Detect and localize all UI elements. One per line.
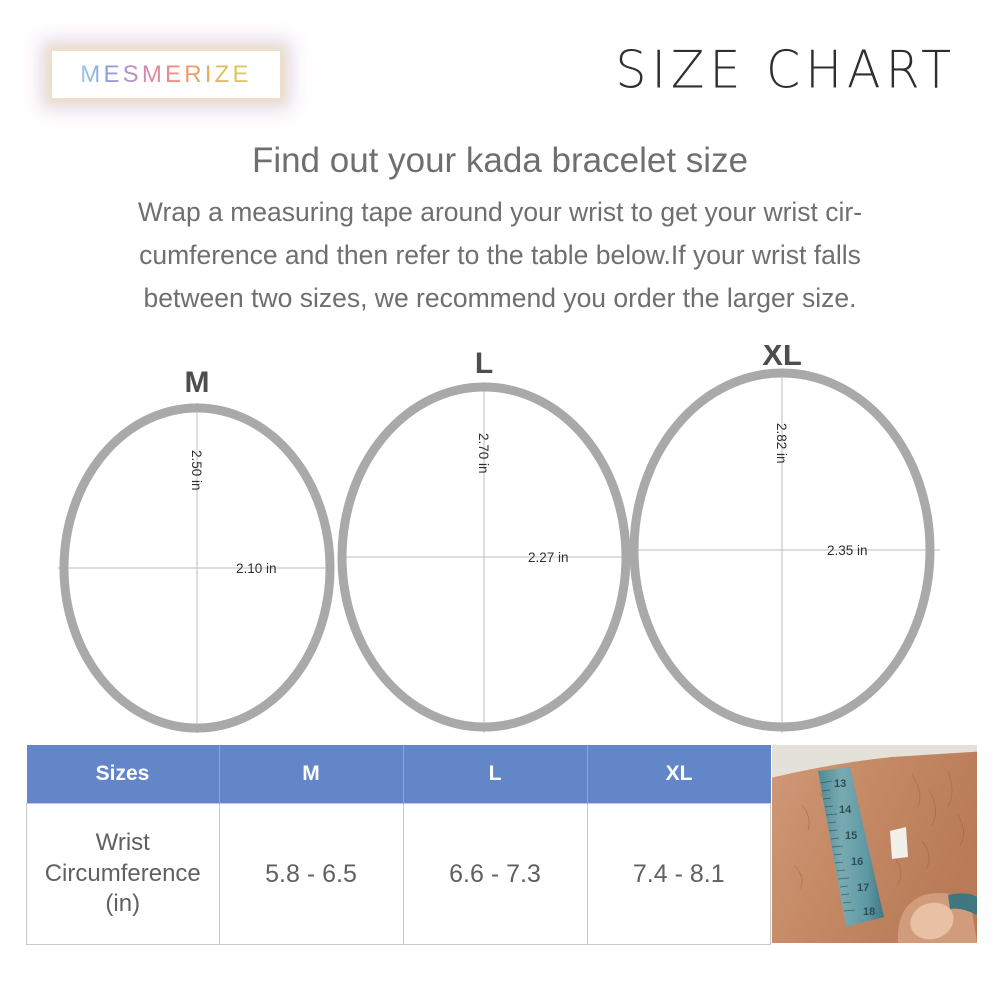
tape-number-18: 18	[863, 906, 875, 918]
oval-m-size-label: M	[185, 366, 210, 399]
wrist-measurement-photo: 13 14 15 16 17 18	[772, 745, 977, 943]
tape-number-17: 17	[857, 882, 869, 894]
table-cell-xl: 7.4 - 8.1	[587, 804, 771, 945]
intro-heading: Find out your kada bracelet size	[0, 140, 1000, 181]
row-label-line-2: Circumference	[45, 860, 201, 887]
row-label-line-3: (in)	[105, 890, 140, 917]
oval-m-width-label: 2.10 in	[236, 561, 277, 576]
tape-number-15: 15	[845, 830, 857, 842]
table-header-row: Sizes M L XL	[27, 745, 771, 804]
wrist-photo-illustration: 13 14 15 16 17 18	[772, 745, 977, 943]
table-cell-l: 6.6 - 7.3	[403, 804, 587, 945]
oval-xl-height-label: 2.82 in	[774, 423, 789, 464]
intro-line-3: between two sizes, we recommend you orde…	[0, 277, 1000, 320]
table-row: Wrist Circumference (in) 5.8 - 6.5 6.6 -…	[27, 804, 771, 945]
size-table: Sizes M L XL Wrist Circumference (in) 5.…	[26, 745, 771, 945]
oval-group-xl: XL 2.82 in 2.35 in	[633, 345, 940, 733]
oval-xl-size-label: XL	[762, 345, 802, 372]
size-table-head: Sizes M L XL	[27, 745, 771, 804]
intro-line-1: Wrap a measuring tape around your wrist …	[0, 191, 1000, 234]
oval-xl-width-label: 2.35 in	[827, 543, 868, 558]
table-header-m: M	[219, 745, 403, 804]
oval-m-height-label: 2.50 in	[189, 450, 204, 491]
tape-number-13: 13	[834, 778, 846, 790]
intro-block: Find out your kada bracelet size Wrap a …	[0, 140, 1000, 320]
oval-diagram-area: M 2.50 in 2.10 in L 2.70 in 2.27 in XL 2…	[0, 345, 1000, 745]
row-label-line-1: Wrist	[96, 829, 150, 856]
oval-l-height-label: 2.70 in	[476, 433, 491, 474]
page-title: SIZE CHART	[615, 40, 956, 100]
oval-l-width-label: 2.27 in	[528, 550, 569, 565]
oval-group-l: L 2.70 in 2.27 in	[339, 347, 632, 733]
tape-number-14: 14	[839, 804, 852, 816]
table-header-sizes: Sizes	[27, 745, 220, 804]
size-table-body: Wrist Circumference (in) 5.8 - 6.5 6.6 -…	[27, 804, 771, 945]
intro-line-2: cumference and then refer to the table b…	[0, 234, 1000, 277]
table-header-xl: XL	[587, 745, 771, 804]
tape-end-tab	[890, 827, 908, 859]
table-row-label: Wrist Circumference (in)	[27, 804, 220, 945]
table-cell-m: 5.8 - 6.5	[219, 804, 403, 945]
brand-logo: MESMERIZE	[52, 51, 280, 98]
oval-group-m: M 2.50 in 2.10 in	[58, 366, 332, 733]
oval-diagram-svg: M 2.50 in 2.10 in L 2.70 in 2.27 in XL 2…	[0, 345, 1000, 745]
table-header-l: L	[403, 745, 587, 804]
brand-logo-text: MESMERIZE	[80, 61, 251, 89]
tape-number-16: 16	[851, 856, 863, 868]
oval-l-size-label: L	[475, 347, 493, 380]
